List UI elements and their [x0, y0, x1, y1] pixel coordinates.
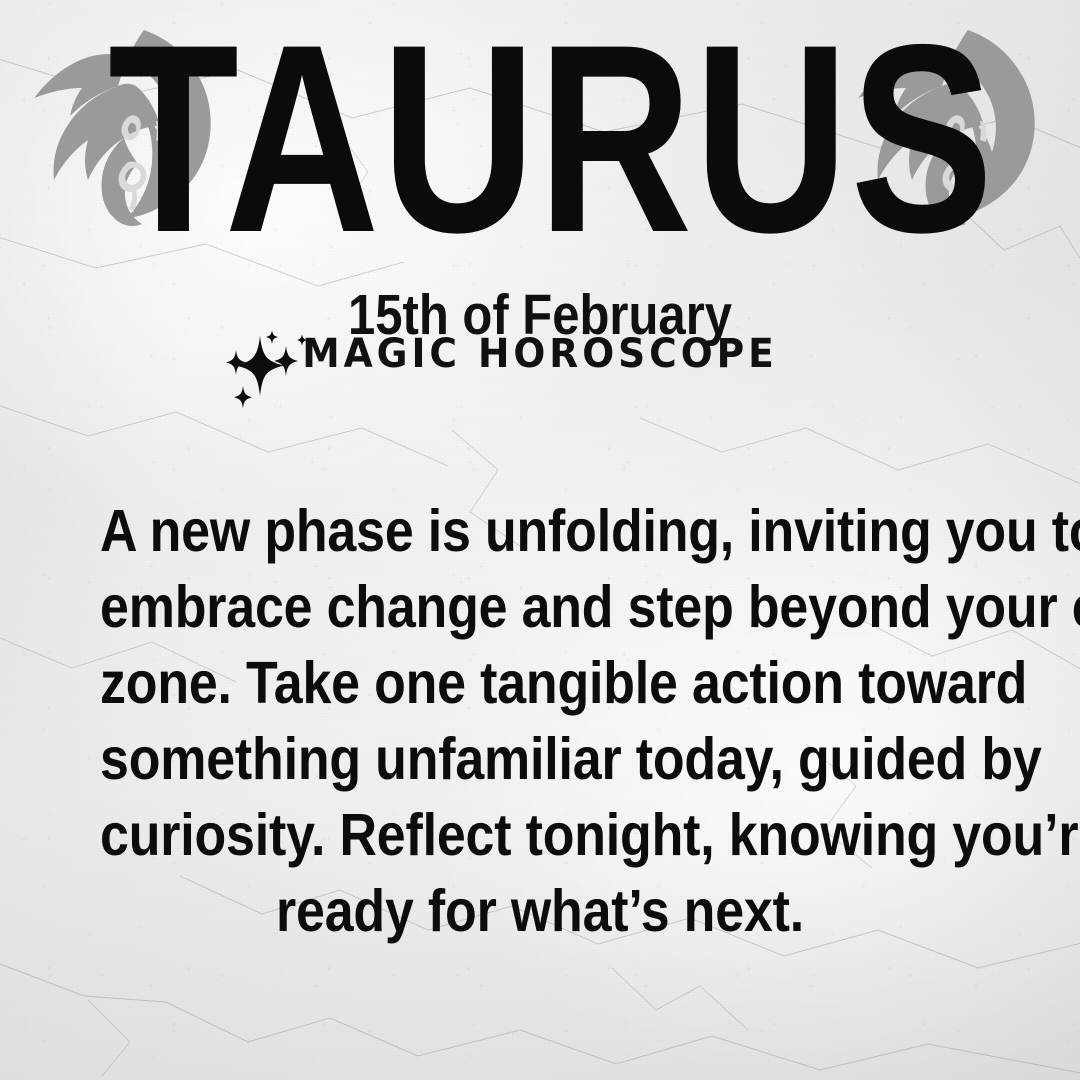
horoscope-body-text: A new phase is unfolding, inviting you t… [100, 493, 980, 949]
brand-name: MAGIC HOROSCOPE [32, 332, 1047, 376]
horoscope-line: curiosity. Reflect tonight, knowing you’… [100, 797, 980, 873]
subheader: 15th of February MAGIC HOROSCOPE [0, 286, 1080, 406]
horoscope-poster: TAURUS 15th of February MAGIC HOROSCOPE … [0, 0, 1080, 1080]
horoscope-line: ready for what’s next. [100, 873, 980, 949]
horoscope-line: A new phase is unfolding, inviting you t… [100, 493, 980, 569]
horoscope-line: zone. Take one tangible action toward [100, 645, 980, 721]
horoscope-line: embrace change and step beyond your comf… [100, 569, 980, 645]
zodiac-sign-title: TAURUS [108, 14, 972, 262]
horoscope-line: something unfamiliar today, guided by [100, 721, 980, 797]
